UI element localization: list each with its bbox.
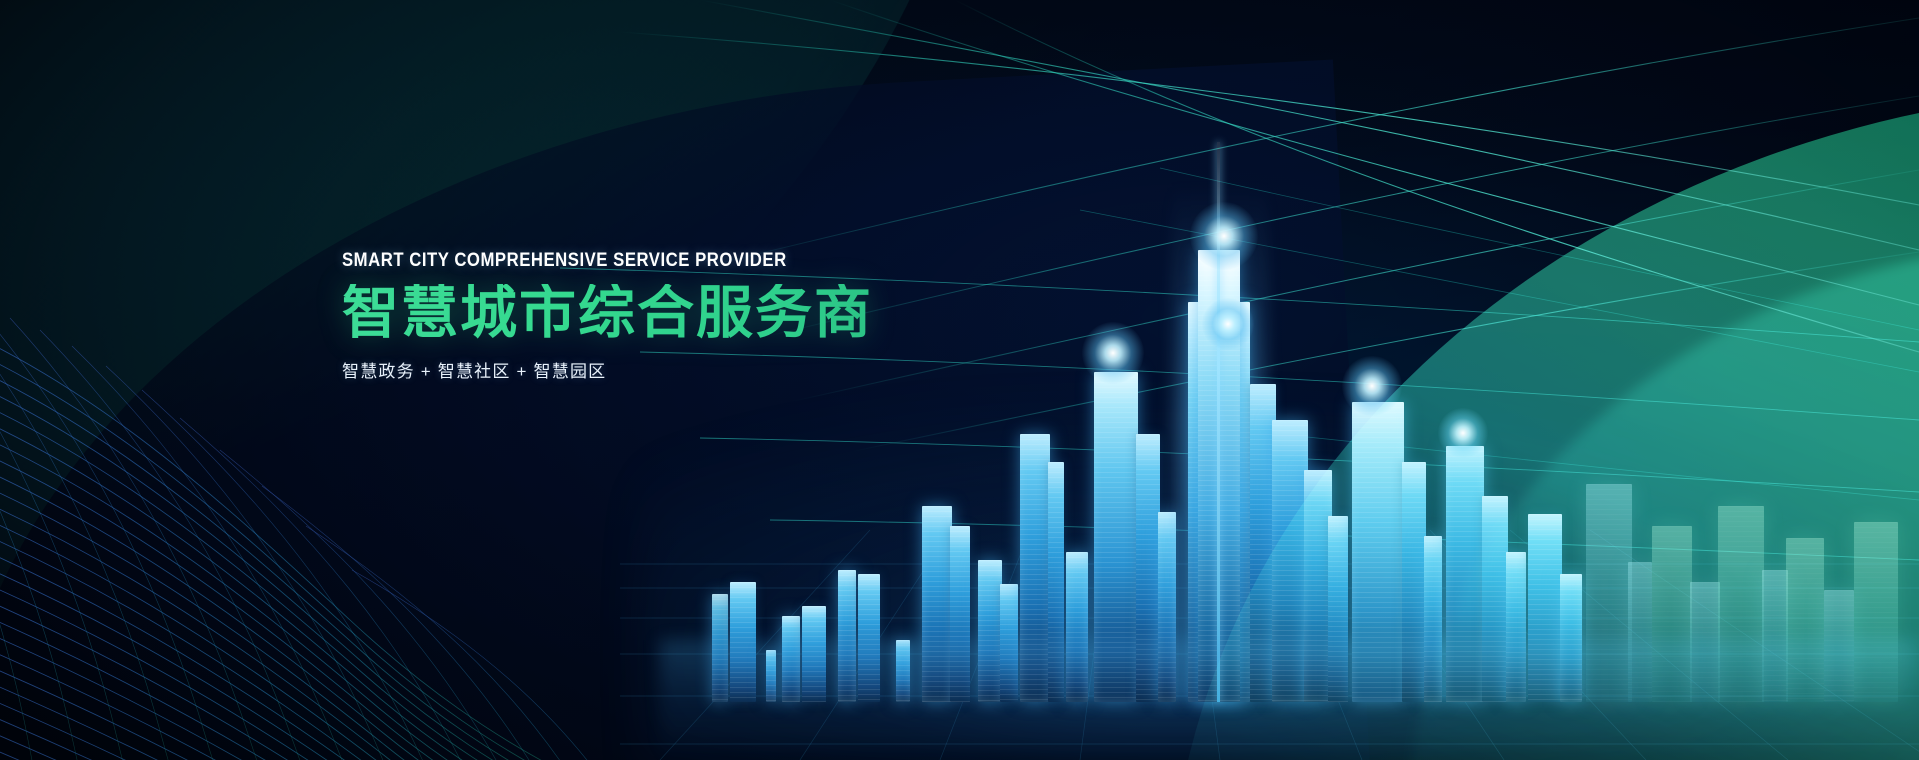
hero-eyebrow: SMART CITY COMPREHENSIVE SERVICE PROVIDE… xyxy=(342,250,1011,272)
hero-headline: 智慧城市综合服务商 xyxy=(342,284,1102,343)
hero-tagline: 智慧政务 + 智慧社区 + 智慧园区 xyxy=(342,357,1102,382)
hero-banner: SMART CITY COMPREHENSIVE SERVICE PROVIDE… xyxy=(0,0,1919,760)
hero-copy-block: SMART CITY COMPREHENSIVE SERVICE PROVIDE… xyxy=(342,250,1102,382)
